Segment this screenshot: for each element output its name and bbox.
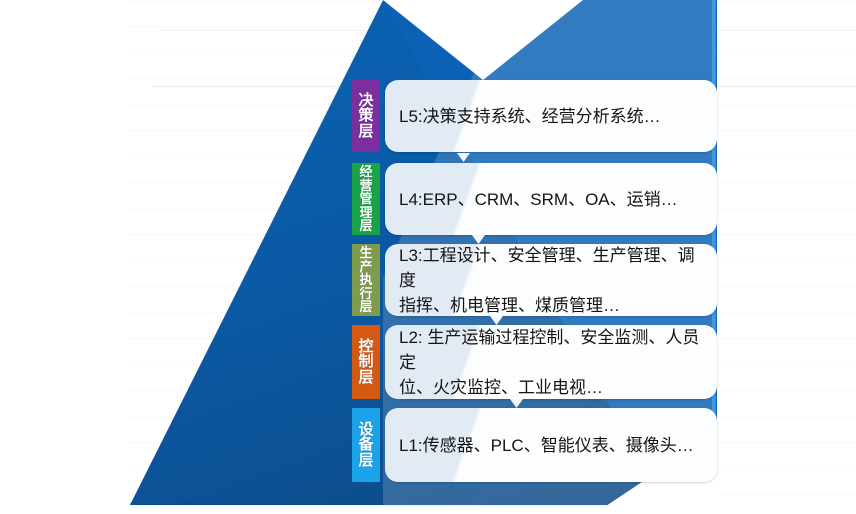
- flow-chevron-icon: [457, 153, 470, 162]
- layer-tab-char: 执: [359, 273, 372, 287]
- layer-card-l2[interactable]: L2: 生产运输过程控制、安全监测、人员定 位、火灾监控、工业电视…: [385, 325, 717, 399]
- layer-row-l1[interactable]: 设 备 层 L1:传感器、PLC、智能仪表、摄像头…: [352, 408, 717, 482]
- layer-card-l3[interactable]: L3:工程设计、安全管理、生产管理、调度 指挥、机电管理、煤质管理…: [385, 244, 717, 316]
- layer-tab-l4[interactable]: 经 营 管 理 层: [352, 163, 380, 235]
- layer-row-l3[interactable]: 生 产 执 行 层 L3:工程设计、安全管理、生产管理、调度 指挥、机电管理、煤…: [352, 244, 717, 316]
- layer-card-text: L4:ERP、CRM、SRM、OA、运销…: [399, 187, 678, 212]
- layer-tab-char: 备: [358, 437, 373, 453]
- layer-card-text: L3:工程设计、安全管理、生产管理、调度 指挥、机电管理、煤质管理…: [399, 243, 703, 318]
- layer-tab-char: 策: [358, 108, 373, 124]
- layer-rows: 决 策 层 L5:决策支持系统、经营分析系统… 经 营 管 理 层 L4:ERP…: [352, 0, 724, 514]
- layer-tab-l2[interactable]: 控 制 层: [352, 325, 380, 399]
- layer-tab-l1[interactable]: 设 备 层: [352, 408, 380, 482]
- layer-card-text: L1:传感器、PLC、智能仪表、摄像头…: [399, 433, 694, 458]
- layer-tab-char: 决: [358, 93, 373, 109]
- layer-tab-char: 经: [359, 165, 372, 179]
- layer-card-l1[interactable]: L1:传感器、PLC、智能仪表、摄像头…: [385, 408, 717, 482]
- layer-tab-char: 设: [358, 422, 373, 438]
- layer-tab-l5[interactable]: 决 策 层: [352, 80, 380, 152]
- layer-tab-char: 制: [358, 354, 373, 370]
- layer-tab-char: 层: [358, 453, 373, 469]
- layer-tab-l3[interactable]: 生 产 执 行 层: [352, 244, 380, 316]
- layer-card-l4[interactable]: L4:ERP、CRM、SRM、OA、运销…: [385, 163, 717, 235]
- layer-tab-char: 管: [359, 192, 372, 206]
- layer-tab-char: 层: [359, 300, 372, 314]
- layer-tab-char: 层: [358, 124, 373, 140]
- layer-tab-char: 控: [358, 339, 373, 355]
- layer-tab-char: 层: [358, 370, 373, 386]
- layer-tab-char: 层: [359, 219, 372, 233]
- layer-row-l4[interactable]: 经 营 管 理 层 L4:ERP、CRM、SRM、OA、运销…: [352, 163, 717, 235]
- layer-card-text: L2: 生产运输过程控制、安全监测、人员定 位、火灾监控、工业电视…: [399, 325, 703, 400]
- diagram-canvas: 决 策 层 L5:决策支持系统、经营分析系统… 经 营 管 理 层 L4:ERP…: [0, 0, 856, 514]
- layer-card-l5[interactable]: L5:决策支持系统、经营分析系统…: [385, 80, 717, 152]
- layer-row-l2[interactable]: 控 制 层 L2: 生产运输过程控制、安全监测、人员定 位、火灾监控、工业电视…: [352, 325, 717, 399]
- flow-chevron-icon: [510, 399, 523, 408]
- layer-tab-char: 生: [359, 246, 372, 260]
- layer-card-text: L5:决策支持系统、经营分析系统…: [399, 104, 661, 129]
- layer-row-l5[interactable]: 决 策 层 L5:决策支持系统、经营分析系统…: [352, 80, 717, 152]
